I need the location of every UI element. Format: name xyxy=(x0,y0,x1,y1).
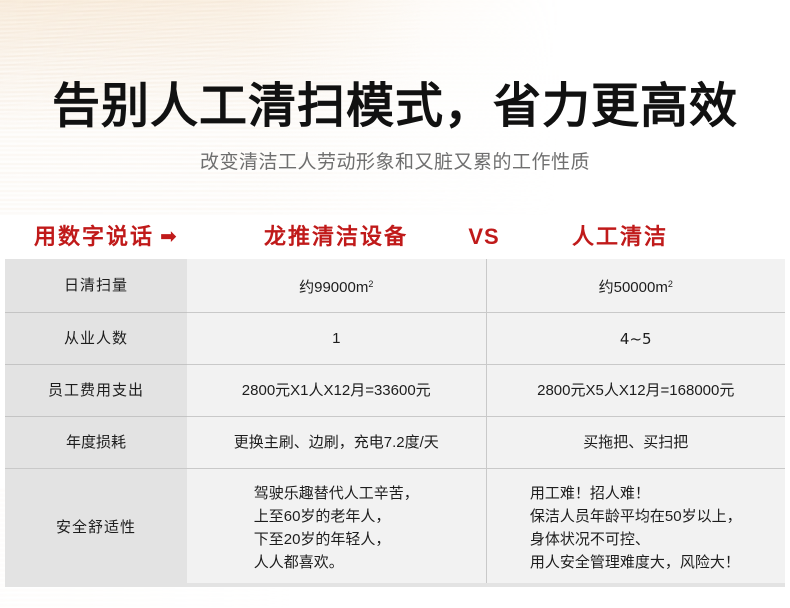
row-value-a: 2800元X1人X12月=33600元 xyxy=(187,365,486,417)
row-value-a: 驾驶乐趣替代人工辛苦，上至60岁的老年人，下至20岁的年轻人，人人都喜欢。 xyxy=(187,469,486,587)
table-row: 从业人数 1 4~5 xyxy=(5,313,785,365)
table-row: 安全舒适性 驾驶乐趣替代人工辛苦，上至60岁的老年人，下至20岁的年轻人，人人都… xyxy=(5,469,785,587)
table-row: 年度损耗 更换主刷、边刷，充电7.2度/天 买拖把、买扫把 xyxy=(5,417,785,469)
row-value-a: 更换主刷、边刷，充电7.2度/天 xyxy=(187,417,486,469)
table-row: 日清扫量 约99000m2 约50000m2 xyxy=(5,259,785,313)
page-title: 告别人工清扫模式，省力更高效 xyxy=(0,78,790,136)
row-value-a: 约99000m2 xyxy=(187,259,486,313)
row-value-a: 1 xyxy=(187,313,486,365)
row-value-a-text: 约99000m xyxy=(299,279,368,296)
row-label: 安全舒适性 xyxy=(5,469,187,587)
table-bottom-band xyxy=(5,583,785,587)
row-label: 从业人数 xyxy=(5,313,187,365)
row-value-b: 2800元X5人X12月=168000元 xyxy=(486,365,785,417)
row-value-b: 约50000m2 xyxy=(486,259,785,313)
header-column-b: 人工清洁 xyxy=(530,220,710,254)
page-subtitle: 改变清洁工人劳动形象和又脏又累的工作性质 xyxy=(0,150,790,176)
header-vs-label: VS xyxy=(438,220,530,254)
row-value-b-text: 约50000m xyxy=(599,279,668,296)
row-value-b: 4~5 xyxy=(486,313,785,365)
row-value-a-superscript: 2 xyxy=(368,279,373,289)
arrow-right-icon: ➡ xyxy=(160,220,177,254)
table-row: 员工费用支出 2800元X1人X12月=33600元 2800元X5人X12月=… xyxy=(5,365,785,417)
row-value-b-lines: 用工难！招人难！保洁人员年龄平均在50岁以上，身体状况不可控、用人安全管理难度大… xyxy=(530,482,742,574)
row-value-b-superscript: 2 xyxy=(668,279,673,289)
row-label: 日清扫量 xyxy=(5,259,187,313)
page-root: 告别人工清扫模式，省力更高效 改变清洁工人劳动形象和又脏又累的工作性质 用数字说… xyxy=(0,0,790,608)
row-value-b: 买拖把、买扫把 xyxy=(486,417,785,469)
row-value-a-lines: 驾驶乐趣替代人工辛苦，上至60岁的老年人，下至20岁的年轻人，人人都喜欢。 xyxy=(254,482,419,574)
header-lead: 用数字说话➡ xyxy=(34,220,177,254)
comparison-table: 日清扫量 约99000m2 约50000m2 从业人数 1 4~5 员工费用支出… xyxy=(5,259,785,586)
row-label: 年度损耗 xyxy=(5,417,187,469)
row-label: 员工费用支出 xyxy=(5,365,187,417)
row-value-b: 用工难！招人难！保洁人员年龄平均在50岁以上，身体状况不可控、用人安全管理难度大… xyxy=(486,469,785,587)
comparison-header-row: 用数字说话➡ 龙推清洁设备 VS 人工清洁 xyxy=(0,220,790,254)
header-lead-label: 用数字说话 xyxy=(34,224,154,249)
